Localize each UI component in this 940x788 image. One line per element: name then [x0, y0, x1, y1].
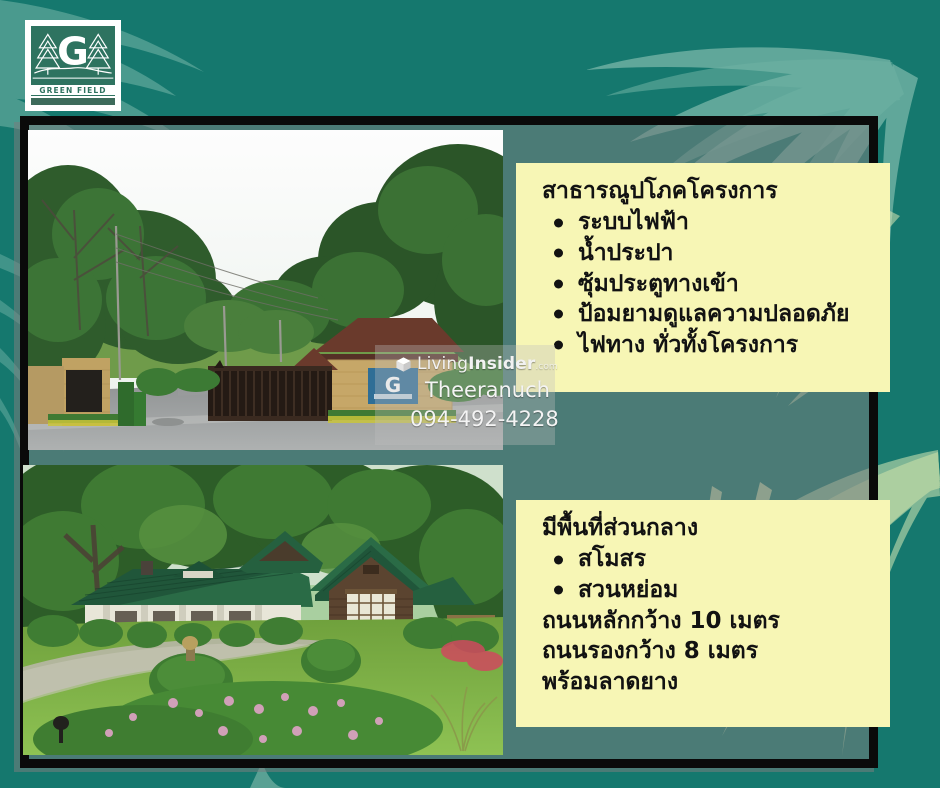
road-spec-line-secondary: ถนนรองกว้าง 8 เมตร — [542, 636, 872, 667]
facilities-card: สาธารณูปโภคโครงการ ระบบไฟฟ้า น้ำประปา ซุ… — [516, 163, 890, 392]
clubhouse-garden-photo — [23, 465, 503, 755]
road-spec-line-primary: ถนนหลักกว้าง 10 เมตร — [542, 606, 872, 637]
list-item-label: ซุ้มประตูทางเข้า — [578, 271, 739, 297]
bullet-icon — [554, 310, 563, 319]
list-item: น้ำประปา — [552, 238, 872, 269]
poster-canvas: G — [0, 0, 940, 788]
logo-bottom-bar — [31, 98, 115, 105]
common-area-card-title: มีพื้นที่ส่วนกลาง — [542, 514, 872, 543]
bullet-icon — [554, 586, 563, 595]
bullet-icon — [554, 218, 563, 227]
road-spec-line-surface: พร้อมลาดยาง — [542, 667, 872, 698]
logo-mark: G — [31, 26, 115, 85]
list-item-label: สโมสร — [578, 546, 646, 572]
logo-wordmark: GREEN FIELD — [31, 85, 115, 97]
list-item-label: น้ำประปา — [578, 240, 673, 266]
list-item: สวนหย่อม — [552, 575, 872, 606]
list-item: ซุ้มประตูทางเข้า — [552, 269, 872, 300]
list-item: ไฟทาง ทั่วทั้งโครงการ — [552, 330, 872, 361]
list-item-label: ไฟทาง ทั่วทั้งโครงการ — [578, 332, 798, 358]
logo-inner: G GREEN FIELD — [31, 26, 115, 105]
list-item: ระบบไฟฟ้า — [552, 207, 872, 238]
facilities-card-title: สาธารณูปโภคโครงการ — [542, 177, 872, 206]
bullet-icon — [554, 249, 563, 258]
svg-text:G: G — [385, 373, 401, 397]
list-item-label: ระบบไฟฟ้า — [578, 209, 689, 235]
list-item: สโมสร — [552, 544, 872, 575]
common-area-card: มีพื้นที่ส่วนกลาง สโมสร สวนหย่อม ถนนหลัก… — [516, 500, 890, 727]
bullet-icon — [554, 279, 563, 288]
bullet-icon — [554, 555, 563, 564]
project-entrance-gate-photo: G — [28, 130, 503, 450]
green-field-logo: G GREEN FIELD — [25, 20, 121, 111]
common-area-list: สโมสร สวนหย่อม — [534, 544, 872, 605]
list-item: ป้อมยามดูแลความปลอดภัย — [552, 299, 872, 330]
bullet-icon — [554, 341, 563, 350]
list-item-label: ป้อมยามดูแลความปลอดภัย — [578, 301, 849, 327]
facilities-list: ระบบไฟฟ้า น้ำประปา ซุ้มประตูทางเข้า ป้อม… — [534, 207, 872, 360]
list-item-label: สวนหย่อม — [578, 577, 678, 603]
